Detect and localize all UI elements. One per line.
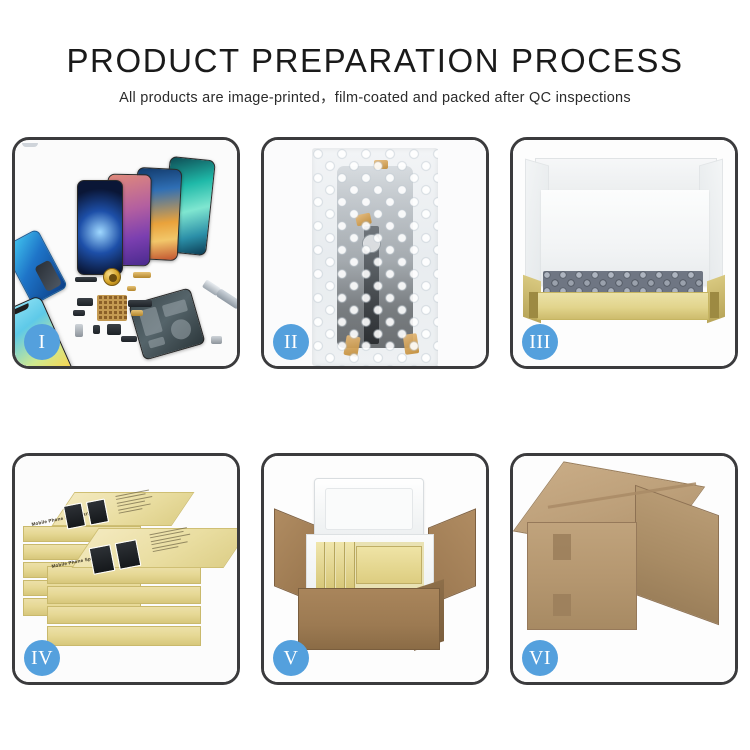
packed-yellow-boxes-icon <box>316 542 424 588</box>
header: PRODUCT PREPARATION PROCESS All products… <box>0 0 750 130</box>
step-5-illustration: V <box>264 456 486 682</box>
button-part <box>93 325 100 334</box>
bubble-texture-overlay <box>312 148 438 366</box>
step-badge-4: IV <box>24 640 60 676</box>
carton-tape-upper <box>553 534 571 560</box>
process-step-panel-5: V <box>261 453 489 685</box>
stacked-box-r2 <box>47 586 201 604</box>
stacked-box-r3 <box>47 606 201 624</box>
process-step-panel-6: VI <box>510 453 738 685</box>
step-badge-6: VI <box>522 640 558 676</box>
sealed-carton-front-icon <box>527 522 637 630</box>
gold-clip-part <box>127 286 136 291</box>
phone-blue-icon <box>77 180 123 275</box>
gold-connector-part <box>133 272 151 278</box>
page-title: PRODUCT PREPARATION PROCESS <box>0 42 750 80</box>
small-flex-part <box>121 336 137 342</box>
ic-chip-part <box>73 310 85 316</box>
contact-pad-part <box>131 310 143 316</box>
camera-module-part <box>77 298 93 306</box>
screw-set-part <box>211 336 222 344</box>
step-6-illustration: VI <box>513 456 735 682</box>
step-3-illustration: III <box>513 140 735 366</box>
box-tab-right-icon <box>710 292 719 318</box>
process-step-panel-3: III <box>510 137 738 369</box>
poster-root: PRODUCT PREPARATION PROCESS All products… <box>0 0 750 750</box>
step-badge-1: I <box>24 324 60 360</box>
bubble-wrap-bag-icon <box>312 148 438 366</box>
process-step-grid: I II <box>12 137 738 685</box>
process-step-panel-2: II <box>261 137 489 369</box>
box-tab-left-icon <box>529 292 538 318</box>
stacked-box-r4 <box>47 626 201 646</box>
sim-tray-part <box>75 324 83 337</box>
box-front-panel-icon <box>537 292 709 320</box>
foam-lid-icon <box>314 478 424 540</box>
antenna-flex-part <box>128 300 152 307</box>
flex-cable-part <box>75 277 97 282</box>
step-2-illustration: II <box>264 140 486 366</box>
process-step-panel-4: Mobile Phone Spare Parts Mobile Phone Sp… <box>12 453 240 685</box>
step-1-illustration: I <box>15 140 237 366</box>
vibration-motor-icon <box>103 268 121 286</box>
page-subtitle: All products are image-printed，film-coat… <box>0 88 750 108</box>
carton-body-icon <box>298 588 440 650</box>
carton-tape-lower <box>553 594 571 616</box>
retail-box-stack: Mobile Phone Spare Parts Mobile Phone Sp… <box>21 468 231 668</box>
process-step-panel-1: I <box>12 137 240 369</box>
step-badge-2: II <box>273 324 309 360</box>
step-badge-5: V <box>273 640 309 676</box>
speaker-part <box>107 324 121 335</box>
chip-pad-array-icon <box>97 295 127 321</box>
step-4-illustration: Mobile Phone Spare Parts Mobile Phone Sp… <box>15 456 237 682</box>
step-badge-3: III <box>522 324 558 360</box>
